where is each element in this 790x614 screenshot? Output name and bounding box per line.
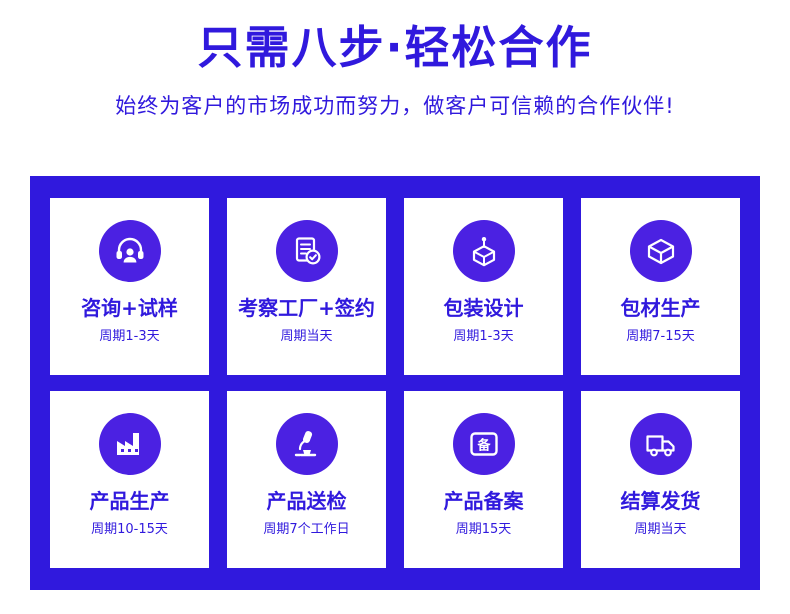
step-card: 结算发货 周期当天 — [581, 391, 740, 568]
step-duration: 周期7个工作日 — [263, 522, 349, 538]
step-icon-badge: 备 — [453, 413, 515, 475]
document-check-icon — [290, 234, 324, 268]
promo-steps-banner: 只需八步·轻松合作 始终为客户的市场成功而努力，做客户可信赖的合作伙伴! — [0, 0, 790, 614]
step-duration: 周期当天 — [280, 329, 332, 345]
step-title: 包材生产 — [621, 296, 701, 320]
steps-grid: 咨询+试样 周期1-3天 — [50, 198, 740, 568]
step-duration: 周期当天 — [634, 522, 686, 538]
step-duration: 周期10-15天 — [91, 522, 168, 538]
step-card: 备 产品备案 周期15天 — [404, 391, 563, 568]
step-duration: 周期1-3天 — [99, 329, 159, 345]
delivery-truck-icon — [644, 427, 678, 461]
steps-board: 咨询+试样 周期1-3天 — [30, 176, 760, 590]
step-duration: 周期7-15天 — [626, 329, 695, 345]
package-design-icon — [467, 234, 501, 268]
step-title: 产品送检 — [267, 489, 347, 513]
step-card: 包材生产 周期7-15天 — [581, 198, 740, 375]
microscope-icon — [290, 427, 324, 461]
page-subtitle: 始终为客户的市场成功而努力，做客户可信赖的合作伙伴! — [0, 90, 790, 120]
step-icon-badge — [99, 413, 161, 475]
step-card: 产品生产 周期10-15天 — [50, 391, 209, 568]
step-icon-badge — [630, 413, 692, 475]
step-title: 咨询+试样 — [81, 296, 178, 320]
step-duration: 周期15天 — [456, 522, 512, 538]
svg-text:备: 备 — [476, 438, 491, 454]
step-icon-badge — [453, 220, 515, 282]
banner-header: 只需八步·轻松合作 始终为客户的市场成功而努力，做客户可信赖的合作伙伴! — [0, 0, 790, 120]
step-icon-badge — [276, 413, 338, 475]
step-title: 考察工厂+签约 — [238, 296, 375, 320]
step-title: 产品备案 — [444, 489, 524, 513]
step-card: 包装设计 周期1-3天 — [404, 198, 563, 375]
factory-icon — [113, 427, 147, 461]
step-icon-badge — [276, 220, 338, 282]
page-title: 只需八步·轻松合作 — [0, 22, 790, 74]
step-card: 咨询+试样 周期1-3天 — [50, 198, 209, 375]
step-icon-badge — [630, 220, 692, 282]
step-title: 产品生产 — [90, 489, 170, 513]
step-icon-badge — [99, 220, 161, 282]
step-card: 产品送检 周期7个工作日 — [227, 391, 386, 568]
step-title: 结算发货 — [621, 489, 701, 513]
step-title: 包装设计 — [444, 296, 524, 320]
step-duration: 周期1-3天 — [453, 329, 513, 345]
step-card: 考察工厂+签约 周期当天 — [227, 198, 386, 375]
headset-support-icon — [113, 234, 147, 268]
record-seal-icon: 备 — [467, 427, 501, 461]
open-box-icon — [644, 234, 678, 268]
